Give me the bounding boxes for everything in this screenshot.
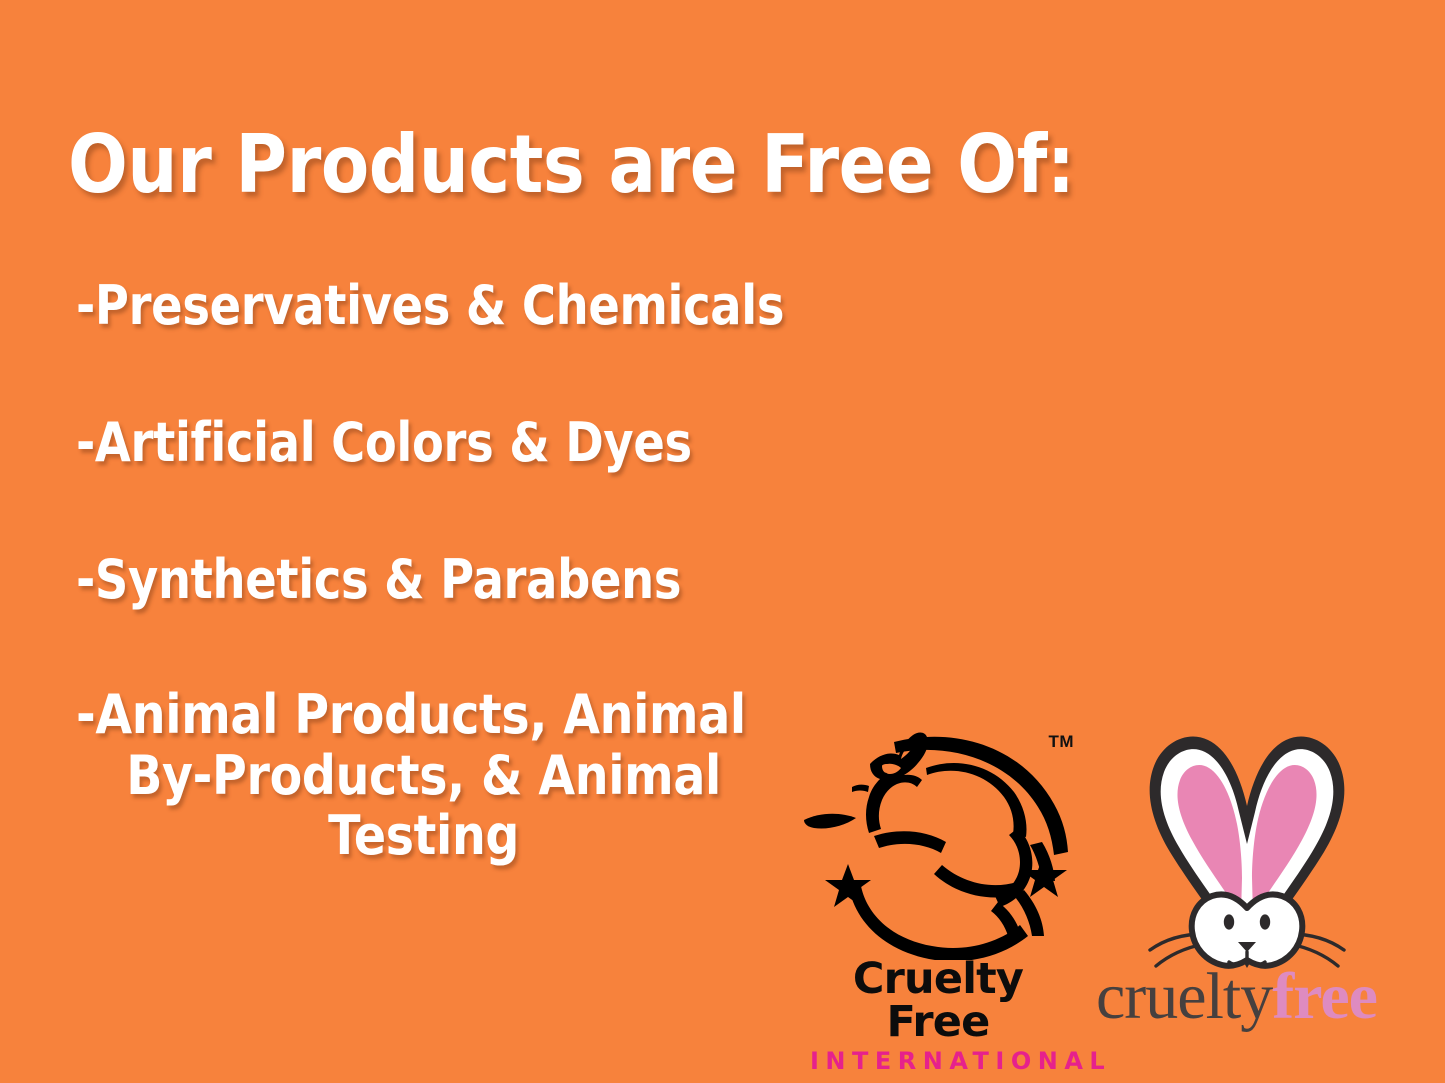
logo-name: Cruelty Free: [804, 958, 1072, 1044]
leaping-bunny-icon: [786, 724, 1076, 960]
list-item-line: Testing: [76, 806, 771, 866]
bunny-heart-ears-icon: [1132, 720, 1362, 982]
certification-logos: TM Cruelty Free INTERNATIONAL: [778, 718, 1418, 1066]
cruelty-free-international-wordmark: Cruelty Free INTERNATIONAL: [804, 958, 1072, 1073]
wordmark-free: free: [1272, 960, 1377, 1033]
free-of-list: -Preservatives & Chemicals -Artificial C…: [76, 278, 866, 867]
list-item: -Synthetics & Parabens: [76, 552, 755, 607]
list-item: -Artificial Colors & Dyes: [76, 415, 755, 470]
cruelty-free-bunny-logo: crueltyfree: [1096, 716, 1418, 1062]
slide-canvas: Our Products are Free Of: -Preservatives…: [0, 0, 1445, 1083]
logo-subtitle: INTERNATIONAL: [804, 1049, 1072, 1073]
cruelty-free-international-logo: TM Cruelty Free INTERNATIONAL: [778, 718, 1078, 1058]
list-item: -Animal Products, Animal By-Products, & …: [76, 685, 771, 866]
crueltyfree-wordmark: crueltyfree: [1096, 964, 1408, 1030]
page-title: Our Products are Free Of:: [68, 124, 1054, 206]
list-item: -Preservatives & Chemicals: [76, 278, 755, 333]
trademark-icon: TM: [1048, 732, 1074, 752]
wordmark-cruelty: cruelty: [1096, 960, 1272, 1033]
list-item-line: -Animal Products, Animal: [76, 685, 771, 745]
list-item-line: By-Products, & Animal: [76, 746, 771, 806]
